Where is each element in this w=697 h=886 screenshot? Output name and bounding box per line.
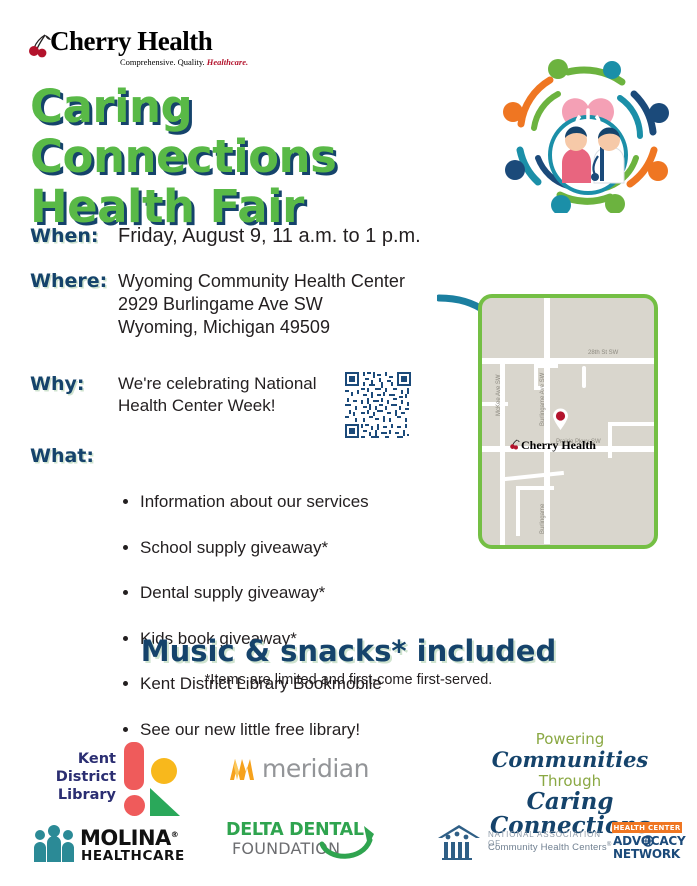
molina-subtitle: HEALTHCARE [81, 848, 185, 864]
health-fair-badge-icon [498, 58, 678, 213]
meridian-mark-icon [228, 756, 258, 782]
sponsor-nachc: NATIONAL ASSOCIATION OF Community Health… [436, 824, 616, 864]
where-value: Wyoming Community Health Center 2929 Bur… [118, 270, 405, 339]
map-road [516, 486, 554, 490]
sponsor-molina-healthcare: MOLINA® HEALTHCARE [32, 822, 192, 866]
map-street-label: 28th St SW [588, 350, 618, 356]
music-snacks-headline: Music & snacks* included [0, 634, 697, 668]
map-road [582, 366, 586, 388]
molina-people-icon [32, 824, 76, 862]
list-item: Dental supply giveaway* [140, 582, 382, 605]
list-item: Information about our services [140, 491, 382, 514]
qr-code[interactable] [345, 372, 411, 438]
why-label: Why: [30, 373, 118, 417]
sponsor-health-center-advocacy-network: HEALTH CENTER ADVOCACY NETWORK [612, 822, 690, 864]
kdl-triangle-shape [150, 788, 180, 816]
brand-tagline: Comprehensive. Quality. Healthcare. [120, 57, 248, 67]
tagline-accent: Healthcare. [207, 57, 248, 67]
detail-row-when: When: Friday, August 9, 11 a.m. to 1 p.m… [30, 225, 500, 248]
globe-icon [642, 835, 654, 847]
detail-row-why: Why: We're celebrating National Health C… [30, 373, 500, 417]
molina-registered-mark: ® [171, 830, 179, 839]
where-label: Where: [30, 270, 118, 339]
map-road [478, 402, 508, 406]
kdl-circle-shape [151, 758, 177, 784]
when-value: Friday, August 9, 11 a.m. to 1 p.m. [118, 225, 421, 248]
advocacy-banner: HEALTH CENTER [612, 822, 682, 833]
sponsor-kent-district-library: Kent District Library [38, 738, 180, 818]
map-brand-text: Cherry Health [521, 438, 596, 452]
map-road [608, 422, 612, 458]
nachc-name: Community Health Centers [488, 842, 607, 853]
nachc-house-icon [436, 824, 482, 860]
cherry-health-logo: Cherry Health Comprehensive. Quality. He… [28, 24, 248, 70]
map-pin-icon [552, 408, 569, 430]
powering-line-1: Powering [455, 730, 685, 748]
map-road [608, 422, 656, 426]
fineprint-note: *Items are limited and first-come first-… [0, 672, 697, 688]
sponsor-delta-dental-foundation: DELTA DENTAL FOUNDATION [226, 820, 376, 866]
tagline-plain: Comprehensive. Quality. [120, 57, 207, 67]
map-road [504, 471, 564, 481]
map-street-label: Burlingame [540, 504, 546, 534]
why-value: We're celebrating National Health Center… [118, 373, 317, 417]
brand-name: Cherry Health [50, 26, 212, 57]
flyer-page: Cherry Health Comprehensive. Quality. He… [0, 0, 697, 886]
sponsor-meridian: meridian [228, 754, 378, 790]
cherry-icon [510, 439, 521, 450]
map-road [516, 488, 520, 536]
nachc-registered-mark: ® [607, 842, 612, 848]
page-title: Caring Connections Health Fair [30, 82, 500, 232]
kdl-name: Kent District Library [38, 750, 116, 804]
location-map[interactable]: 28th St SW Burlingame Ave SW Prairie Pkw… [478, 294, 658, 549]
map-street-label: McKee Ave SW [496, 374, 502, 416]
list-item: School supply giveaway* [140, 537, 382, 560]
molina-wordmark: MOLINA [80, 826, 171, 850]
map-street-label: Burlingame Ave SW [540, 373, 546, 426]
powering-line-2: Communities [455, 748, 685, 772]
detail-row-where: Where: Wyoming Community Health Center 2… [30, 270, 500, 339]
when-label: When: [30, 225, 118, 248]
nachc-line-2: Community Health Centers® [488, 842, 611, 853]
meridian-name: meridian [262, 754, 369, 783]
kdl-bar-shape [124, 742, 144, 790]
kdl-dot-shape [124, 795, 145, 816]
molina-name: MOLINA® [80, 826, 178, 850]
delta-smile-icon [318, 824, 378, 866]
sponsor-logos: Kent District Library meridian Powering … [0, 718, 697, 886]
event-details: When: Friday, August 9, 11 a.m. to 1 p.m… [30, 225, 500, 797]
map-road [478, 358, 658, 364]
map-brand-label: Cherry Health [510, 438, 596, 453]
